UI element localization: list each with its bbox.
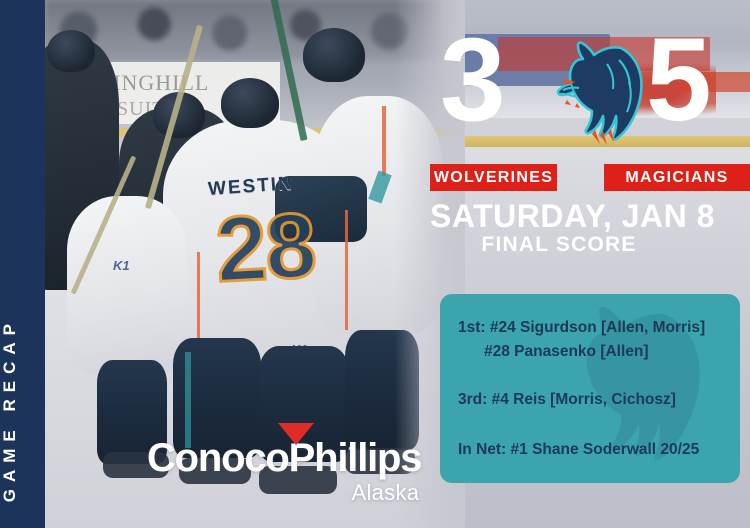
helmet-huddle: [221, 78, 279, 128]
home-score: 3: [440, 21, 502, 139]
away-team-label: MAGICIANS: [625, 169, 728, 187]
summary-line-2: #28 Panasenko [Allen]: [458, 340, 740, 364]
jersey-stripe-3: [382, 106, 386, 176]
jersey-number: 28: [213, 193, 317, 303]
scoring-summary-body: 1st: #24 Sigurdson [Allen, Morris] #28 P…: [440, 294, 740, 462]
sponsor-logo: ConocoPhillips Alaska: [147, 437, 421, 506]
summary-line-4: In Net: #1 Shane Soderwall 20/25: [458, 438, 740, 462]
game-status: FINAL SCORE: [430, 233, 688, 257]
pants-stripe: [185, 352, 191, 448]
summary-spacer-2: [458, 412, 740, 438]
helmet-left: [47, 30, 95, 72]
summary-line-1: 1st: #24 Sigurdson [Allen, Morris]: [458, 316, 740, 340]
away-score: 5: [646, 21, 708, 139]
home-team-chip: WOLVERINES: [430, 164, 557, 191]
summary-line-3: 3rd: #4 Reis [Morris, Cichosz]: [458, 388, 740, 412]
summary-spacer-1: [458, 364, 740, 388]
sidebar-label: GAME RECAP: [0, 317, 45, 502]
helmet-right: [303, 28, 365, 82]
game-recap-graphic: SPRINGHILL SUITES WESTIN 28 K1 K1: [0, 0, 750, 528]
game-date: SATURDAY, JAN 8: [430, 198, 730, 235]
scoring-summary-card: 1st: #24 Sigurdson [Allen, Morris] #28 P…: [440, 294, 740, 483]
jersey-stripe-2: [345, 210, 348, 330]
sidebar: GAME RECAP: [0, 0, 45, 528]
conocophillips-triangle-icon: [278, 423, 314, 445]
sponsor-region: Alaska: [147, 480, 421, 506]
player-white-left: [67, 196, 187, 376]
home-team-label: WOLVERINES: [434, 169, 553, 187]
away-team-chip: MAGICIANS: [604, 164, 750, 191]
wolverine-mascot-icon: [533, 34, 653, 154]
brand-mark-1: K1: [113, 258, 130, 273]
